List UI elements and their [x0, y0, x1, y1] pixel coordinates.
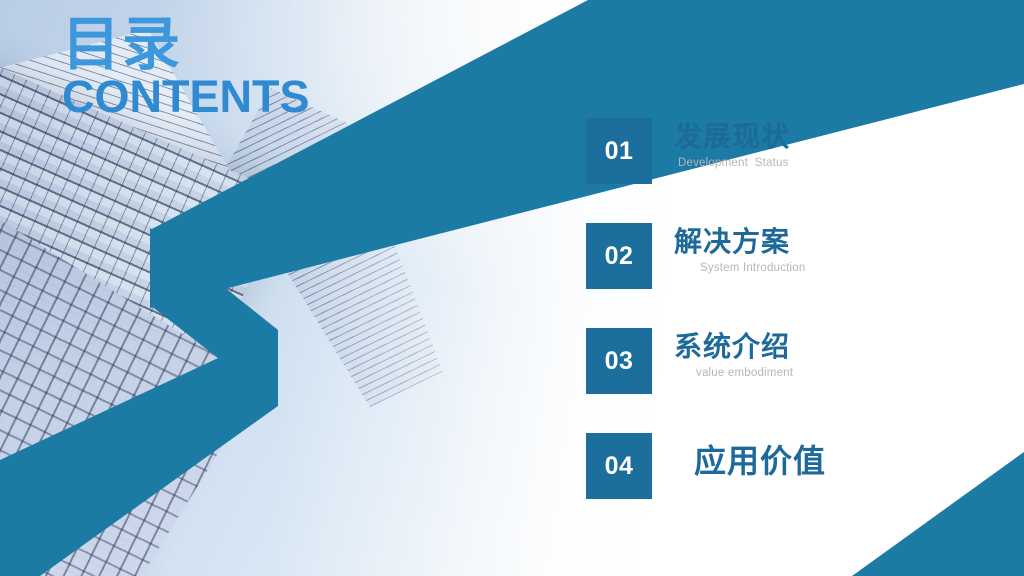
agenda-item-03[interactable]: 03 系统介绍 value embodiment — [586, 328, 986, 394]
agenda-subtitle-03: value embodiment — [696, 366, 793, 381]
agenda-number-badge-02: 02 — [586, 223, 652, 289]
agenda-title-01: 发展现状 — [674, 120, 790, 153]
agenda-number-badge-03: 03 — [586, 328, 652, 394]
agenda-title-03: 系统介绍 — [674, 330, 793, 363]
slide-heading: 目录 CONTENTS — [62, 14, 310, 122]
agenda-subtitle-01: Development Status — [678, 156, 790, 171]
agenda-item-02[interactable]: 02 解决方案 System Introduction — [586, 223, 986, 289]
heading-english: CONTENTS — [62, 73, 310, 122]
agenda-number-badge-01: 01 — [586, 118, 652, 184]
agenda-text-03: 系统介绍 value embodiment — [674, 328, 793, 381]
agenda-title-02: 解决方案 — [674, 225, 805, 258]
agenda-text-04: 应用价值 — [694, 433, 826, 484]
agenda-item-04[interactable]: 04 应用价值 — [586, 433, 986, 499]
agenda-item-01[interactable]: 01 发展现状 Development Status — [586, 118, 986, 184]
slide-canvas: 目录 CONTENTS 01 发展现状 Development Status 0… — [0, 0, 1024, 576]
agenda-list: 01 发展现状 Development Status 02 解决方案 Syste… — [586, 118, 986, 499]
agenda-text-02: 解决方案 System Introduction — [674, 223, 805, 276]
heading-chinese: 目录 — [62, 14, 310, 75]
agenda-number-badge-04: 04 — [586, 433, 652, 499]
agenda-text-01: 发展现状 Development Status — [674, 118, 790, 171]
agenda-subtitle-02: System Introduction — [700, 261, 805, 276]
agenda-title-04: 应用价值 — [694, 443, 826, 481]
